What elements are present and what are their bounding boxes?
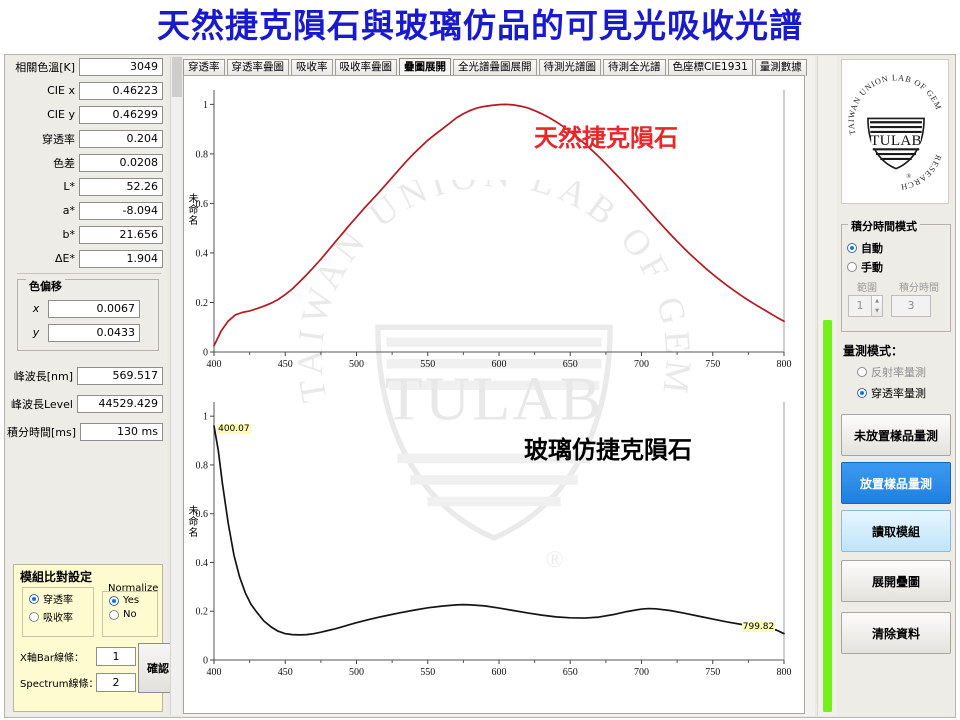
- svg-text:0.8: 0.8: [196, 460, 209, 471]
- xaxis-bar-line-label: X軸Bar線條：: [20, 649, 96, 664]
- measure-with-sample-button[interactable]: 放置樣品量測: [841, 462, 951, 504]
- metric-value[interactable]: 569.517: [77, 367, 163, 385]
- metric-label: CIE x: [47, 84, 79, 97]
- metric-label: L*: [63, 180, 79, 193]
- radio-label: Yes: [123, 595, 139, 606]
- svg-text:700: 700: [634, 667, 649, 678]
- radio-option-yes[interactable]: Yes: [103, 592, 157, 606]
- spectrum-line-row: Spectrum線條： 2: [20, 673, 136, 692]
- svg-text:400: 400: [207, 359, 222, 370]
- radio-label: 反射率量測: [871, 364, 926, 380]
- metric-value[interactable]: 0.0067: [48, 300, 140, 318]
- tab-sample-full-spectrum[interactable]: 待測全光譜: [603, 59, 666, 76]
- radio-label: No: [123, 609, 137, 620]
- metric-value[interactable]: 3049: [79, 58, 163, 76]
- metric-row: b* 21.656: [7, 224, 167, 245]
- metric-row: ΔE* 1.904: [7, 248, 167, 269]
- metrics-list-bottom: 峰波長[nm] 569.517 峰波長Level 44529.429 積分時間[…: [7, 365, 167, 442]
- metric-row: 穿透率 0.204: [7, 128, 167, 149]
- svg-text:0.2: 0.2: [196, 607, 209, 618]
- chart-bottom-annotation-end: 799.82: [742, 622, 776, 632]
- svg-text:450: 450: [278, 359, 293, 370]
- metric-row: CIE x 0.46223: [7, 80, 167, 101]
- metric-value[interactable]: -8.094: [79, 202, 163, 220]
- divider: [17, 273, 161, 274]
- tab-absorbance-overlay[interactable]: 吸收率疊圖: [335, 59, 398, 76]
- read-module-button[interactable]: 讀取模組: [841, 510, 951, 552]
- metric-row: 峰波長Level 44529.429: [7, 393, 167, 414]
- metric-row: a* -8.094: [7, 200, 167, 221]
- metric-row: CIE y 0.46299: [7, 104, 167, 125]
- left-panel-scrollbar[interactable]: [170, 57, 182, 715]
- radio-option-absorbance[interactable]: 吸收率: [23, 606, 93, 624]
- radio-option-transmittance-measure[interactable]: 穿透率量測: [841, 380, 951, 401]
- xaxis-bar-line-row: X軸Bar線條： 1: [20, 647, 136, 666]
- metric-row: 峰波長[nm] 569.517: [7, 365, 167, 386]
- svg-text:0: 0: [203, 348, 208, 359]
- metric-value[interactable]: 44529.429: [77, 395, 163, 413]
- metric-value[interactable]: 0.46223: [79, 82, 163, 100]
- integration-time-mode-group: 積分時間模式 自動 手動 範圍 積分時間 1 ▲ ▼: [841, 224, 951, 332]
- svg-text:450: 450: [278, 667, 293, 678]
- svg-text:0.8: 0.8: [196, 149, 209, 160]
- compare-mode-radio-group: 穿透率 吸收率: [22, 587, 94, 637]
- chart-top-svg: 00.20.40.60.8140045050055060065070075080…: [184, 76, 805, 386]
- radio-icon: [847, 243, 857, 253]
- clear-data-button[interactable]: 清除資料: [841, 612, 951, 654]
- radio-option-transmittance[interactable]: 穿透率: [23, 588, 93, 606]
- status-bar-track: [817, 56, 837, 716]
- module-compare-settings-group: 模組比對設定 穿透率 吸收率 Normalize Yes: [13, 564, 163, 712]
- svg-text:750: 750: [705, 359, 720, 370]
- page-title: 天然捷克隕石與玻璃仿品的可見光吸收光譜: [0, 2, 960, 50]
- color-shift-group: 色偏移 x 0.0067 y 0.0433: [17, 279, 159, 351]
- svg-text:0.6: 0.6: [196, 509, 209, 520]
- integration-fields: 1 ▲ ▼ 3: [848, 295, 950, 317]
- radio-label: 穿透率: [43, 591, 73, 606]
- tab-transmittance-overlay[interactable]: 穿透率疊圖: [227, 59, 290, 76]
- tulab-logo: TAIWAN UNION LAB OF GEM RESEARCH: [841, 59, 949, 204]
- svg-text:800: 800: [777, 667, 792, 678]
- metrics-list-top: 相關色溫[K] 3049 CIE x 0.46223 CIE y 0.46299…: [7, 56, 167, 269]
- svg-text:750: 750: [705, 667, 720, 678]
- module-compare-title: 模組比對設定: [20, 568, 92, 585]
- svg-text:800: 800: [777, 359, 792, 370]
- metric-label: 峰波長[nm]: [14, 368, 77, 384]
- radio-icon: [847, 262, 857, 272]
- metric-label: ΔE*: [55, 252, 79, 265]
- radio-icon: [857, 367, 867, 377]
- radio-option-auto[interactable]: 自動: [842, 237, 950, 256]
- chart-top-natural-moldavite: 未命名 00.20.40.60.814004505005506006507007…: [184, 76, 805, 386]
- radio-label: 吸收率: [43, 609, 73, 624]
- chart-bottom-glass-imitation: 未命名 00.20.40.60.814004505005506006507007…: [184, 388, 805, 698]
- svg-text:0.4: 0.4: [196, 558, 209, 569]
- metric-row: 積分時間[ms] 130 ms: [7, 421, 167, 442]
- svg-text:600: 600: [492, 667, 507, 678]
- metric-row: y 0.0433: [24, 322, 152, 343]
- xaxis-bar-line-input[interactable]: 1: [96, 647, 136, 666]
- svg-text:700: 700: [634, 359, 649, 370]
- svg-text:TULAB: TULAB: [870, 133, 922, 149]
- metric-label: CIE y: [47, 108, 79, 121]
- chevron-up-icon[interactable]: ▲: [872, 296, 882, 306]
- chart-top-series-label: 天然捷克隕石: [534, 118, 678, 153]
- metric-row: x 0.0067: [24, 298, 152, 319]
- range-label: 範圍: [857, 279, 877, 294]
- radio-icon: [29, 594, 39, 604]
- tab-overlay-expanded[interactable]: 疊圖展開: [399, 58, 451, 76]
- svg-text:550: 550: [420, 667, 435, 678]
- svg-text:0.4: 0.4: [196, 248, 209, 259]
- svg-text:1: 1: [203, 412, 208, 423]
- svg-text:0.2: 0.2: [196, 298, 209, 309]
- plot-panel: 穿透率 穿透率疊圖 吸收率 吸收率疊圖 疊圖展開 全光譜疊圖展開 待測光譜圖 待…: [183, 56, 815, 716]
- metric-label: 峰波長Level: [11, 396, 77, 412]
- normalize-radio-group: Yes No: [102, 591, 158, 637]
- chart-bottom-annotation-start: 400.07: [217, 424, 251, 434]
- metric-label: 相關色溫[K]: [15, 59, 79, 75]
- metric-value[interactable]: 52.26: [79, 178, 163, 196]
- svg-text:550: 550: [420, 359, 435, 370]
- metric-row: 相關色溫[K] 3049: [7, 56, 167, 77]
- svg-text:650: 650: [563, 359, 578, 370]
- integration-time-label: 積分時間: [899, 279, 939, 294]
- chevron-down-icon[interactable]: ▼: [872, 306, 882, 316]
- tab-measurement-data[interactable]: 量測數據: [755, 59, 807, 76]
- radio-icon: [109, 610, 119, 620]
- status-progress-bar: [823, 320, 832, 712]
- stepper-buttons[interactable]: ▲ ▼: [872, 295, 883, 317]
- metric-label: y: [30, 326, 48, 339]
- chart-bottom-series-label: 玻璃仿捷克隕石: [524, 430, 692, 465]
- metric-label: x: [30, 302, 48, 315]
- measure-without-sample-button[interactable]: 未放置樣品量測: [841, 414, 951, 456]
- integration-time-mode-title: 積分時間模式: [848, 218, 920, 234]
- integration-time-value[interactable]: 3: [891, 295, 931, 317]
- tab-full-spectrum-overlay-expanded[interactable]: 全光譜疊圖展開: [453, 59, 537, 76]
- metric-value[interactable]: 0.204: [79, 130, 163, 148]
- tab-strip: 穿透率 穿透率疊圖 吸收率 吸收率疊圖 疊圖展開 全光譜疊圖展開 待測光譜圖 待…: [183, 58, 815, 76]
- tab-cie1931[interactable]: 色座標CIE1931: [668, 59, 753, 76]
- measure-mode-group: 量測模式： 反射率量測 穿透率量測: [841, 342, 951, 408]
- radio-icon: [857, 388, 867, 398]
- measurement-results-panel: 相關色溫[K] 3049 CIE x 0.46223 CIE y 0.46299…: [7, 56, 167, 716]
- metric-label: a*: [63, 204, 79, 217]
- metric-label: 穿透率: [42, 131, 79, 147]
- radio-option-manual[interactable]: 手動: [842, 256, 950, 275]
- svg-text:®: ®: [906, 173, 911, 180]
- tab-absorbance[interactable]: 吸收率: [291, 59, 333, 76]
- svg-text:500: 500: [349, 359, 364, 370]
- metric-value[interactable]: 0.0208: [79, 154, 163, 172]
- radio-label: 手動: [861, 259, 883, 275]
- metric-label: b*: [63, 228, 79, 241]
- spectrum-line-input[interactable]: 2: [96, 673, 136, 692]
- metric-value[interactable]: 21.656: [79, 226, 163, 244]
- metric-label: 色差: [53, 155, 79, 171]
- measure-mode-title: 量測模式：: [841, 342, 951, 359]
- color-shift-title: 色偏移: [26, 278, 65, 294]
- svg-text:0: 0: [203, 656, 208, 667]
- expand-overlay-button[interactable]: 展開疊圖: [841, 560, 951, 602]
- radio-option-reflectance[interactable]: 反射率量測: [841, 359, 951, 380]
- metric-value[interactable]: 1.904: [79, 250, 163, 268]
- metric-label: 積分時間[ms]: [7, 424, 80, 440]
- metric-row: 色差 0.0208: [7, 152, 167, 173]
- spectrum-line-label: Spectrum線條：: [20, 675, 96, 690]
- metric-value[interactable]: 0.46299: [79, 106, 163, 124]
- svg-text:650: 650: [563, 667, 578, 678]
- radio-label: 穿透率量測: [871, 385, 926, 401]
- svg-text:0.6: 0.6: [196, 199, 209, 210]
- svg-text:400: 400: [207, 667, 222, 678]
- radio-icon: [29, 612, 39, 622]
- integration-sub-labels: 範圍 積分時間: [846, 279, 950, 294]
- metric-value[interactable]: 130 ms: [80, 423, 163, 441]
- metric-row: L* 52.26: [7, 176, 167, 197]
- application-window: 相關色溫[K] 3049 CIE x 0.46223 CIE y 0.46299…: [4, 54, 956, 718]
- radio-option-no[interactable]: No: [103, 606, 157, 620]
- svg-text:1: 1: [203, 100, 208, 111]
- plot-area: TAIWAN UNION LAB OF GEM RESEARCH TULAB: [183, 75, 805, 714]
- chart-bottom-svg: 00.20.40.60.8140045050055060065070075080…: [184, 388, 805, 698]
- tab-sample-spectrum-chart[interactable]: 待測光譜圖: [539, 59, 602, 76]
- radio-icon: [109, 596, 119, 606]
- svg-text:600: 600: [492, 359, 507, 370]
- svg-text:500: 500: [349, 667, 364, 678]
- tab-transmittance[interactable]: 穿透率: [183, 59, 225, 76]
- metric-value[interactable]: 0.0433: [48, 324, 140, 342]
- range-stepper[interactable]: 1 ▲ ▼: [848, 295, 883, 317]
- radio-label: 自動: [861, 240, 883, 256]
- control-panel: TAIWAN UNION LAB OF GEM RESEARCH: [837, 56, 955, 716]
- scrollbar-thumb[interactable]: [172, 57, 182, 97]
- range-value[interactable]: 1: [848, 295, 872, 317]
